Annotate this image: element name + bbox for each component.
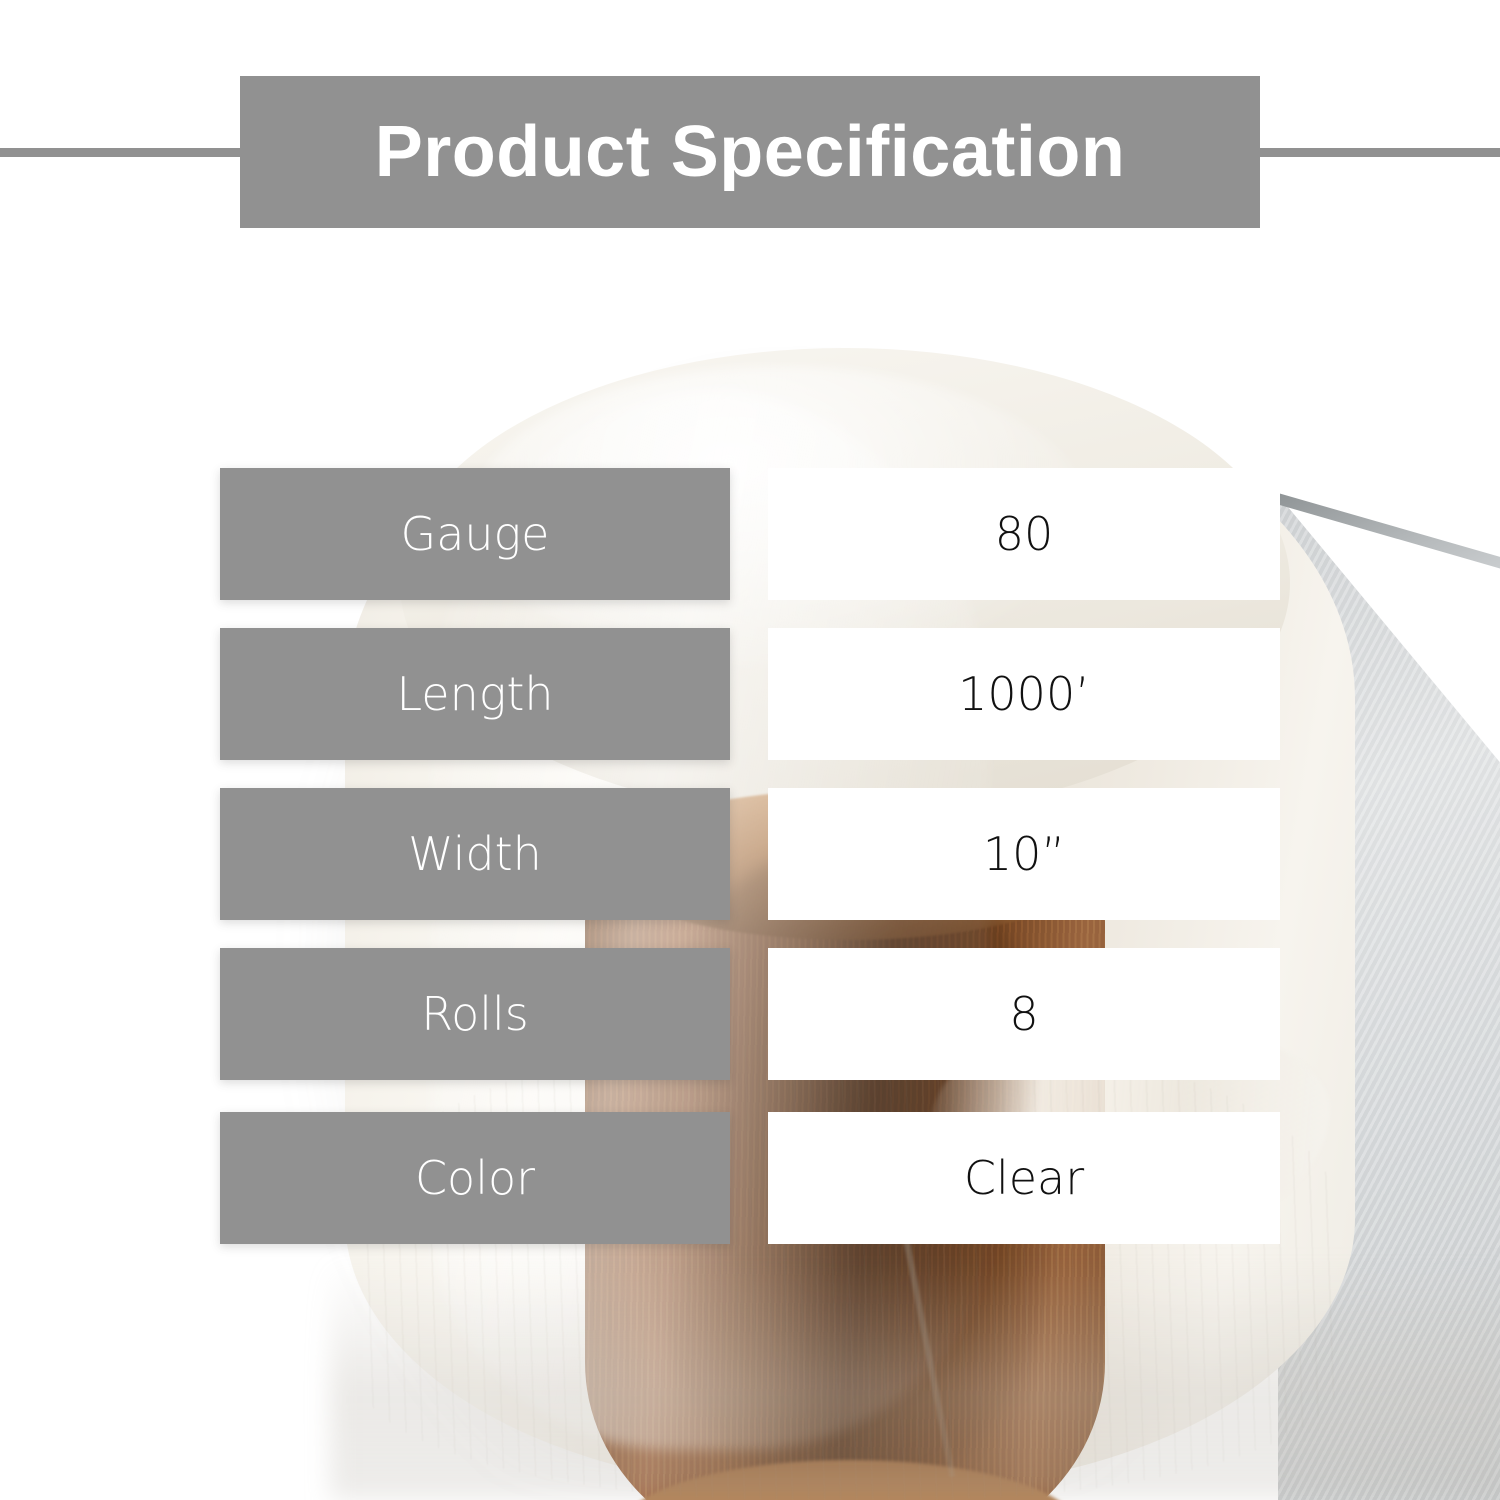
table-row: Length 1000’ xyxy=(0,628,1500,760)
spec-label-text: Width xyxy=(408,831,542,877)
specification-table: Gauge 80 Length 1000’ Width 10” Rol xyxy=(0,0,1500,1500)
spec-value-rolls: 8 xyxy=(768,948,1280,1080)
spec-label-text: Color xyxy=(415,1155,535,1201)
spec-label-width: Width xyxy=(220,788,730,920)
spec-value-color: Clear xyxy=(768,1112,1280,1244)
spec-label-rolls: Rolls xyxy=(220,948,730,1080)
spec-value-length: 1000’ xyxy=(768,628,1280,760)
spec-value-text: 1000’ xyxy=(958,671,1090,717)
table-row: Rolls 8 xyxy=(0,948,1500,1080)
spec-value-text: 10” xyxy=(983,831,1065,877)
spec-label-text: Length xyxy=(396,671,553,717)
table-row: Color Clear xyxy=(0,1112,1500,1244)
spec-label-text: Gauge xyxy=(401,511,550,557)
spec-value-text: Clear xyxy=(964,1155,1084,1201)
spec-value-width: 10” xyxy=(768,788,1280,920)
product-spec-infographic: Product Specification Gauge 80 Length 10… xyxy=(0,0,1500,1500)
spec-label-length: Length xyxy=(220,628,730,760)
table-row: Gauge 80 xyxy=(0,468,1500,600)
spec-label-color: Color xyxy=(220,1112,730,1244)
spec-value-gauge: 80 xyxy=(768,468,1280,600)
table-row: Width 10” xyxy=(0,788,1500,920)
spec-value-text: 8 xyxy=(1009,991,1038,1037)
spec-label-gauge: Gauge xyxy=(220,468,730,600)
spec-label-text: Rolls xyxy=(421,991,529,1037)
spec-value-text: 80 xyxy=(995,511,1054,557)
